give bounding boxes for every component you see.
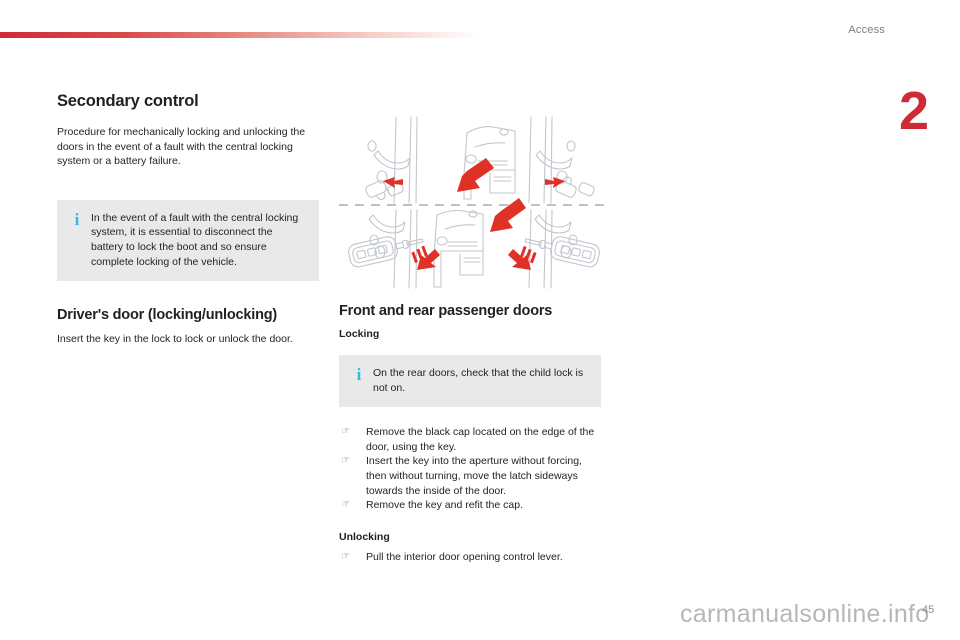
list-item: ☞ Remove the black cap located on the ed…	[339, 425, 601, 454]
section-title-passenger-doors: Front and rear passenger doors	[339, 303, 601, 319]
pointing-hand-icon: ☞	[341, 550, 350, 565]
door-lock-illustration	[339, 115, 609, 290]
page-number: 45	[922, 604, 934, 616]
pointing-hand-icon: ☞	[341, 454, 350, 469]
section-label: Access	[848, 24, 885, 36]
info-callout-text: In the event of a fault with the central…	[87, 211, 305, 269]
list-item: ☞ Pull the interior door opening control…	[339, 550, 601, 565]
locking-label: Locking	[339, 328, 601, 340]
unlocking-label: Unlocking	[339, 531, 601, 543]
left-column: Secondary control Procedure for mechanic…	[57, 92, 319, 347]
page-title: Secondary control	[57, 92, 319, 111]
site-watermark: carmanualsonline.info	[680, 600, 930, 629]
list-item: ☞ Remove the key and refit the cap.	[339, 498, 601, 513]
info-callout-central-locking: i In the event of a fault with the centr…	[57, 200, 319, 281]
info-callout-text: On the rear doors, check that the child …	[369, 366, 587, 395]
chapter-number: 2	[899, 84, 928, 138]
unlocking-steps-list: ☞ Pull the interior door opening control…	[339, 550, 601, 565]
info-callout-child-lock: i On the rear doors, check that the chil…	[339, 355, 601, 407]
pointing-hand-icon: ☞	[341, 498, 350, 513]
locking-steps-list: ☞ Remove the black cap located on the ed…	[339, 425, 601, 513]
list-item-text: Insert the key into the aperture without…	[366, 455, 582, 496]
subsection-title-drivers-door: Driver's door (locking/unlocking)	[57, 307, 319, 323]
list-item-text: Remove the key and refit the cap.	[366, 499, 523, 511]
subsection-text-drivers-door: Insert the key in the lock to lock or un…	[57, 332, 319, 347]
info-icon: i	[67, 211, 87, 227]
list-item-text: Remove the black cap located on the edge…	[366, 426, 594, 453]
list-item: ☞ Insert the key into the aperture witho…	[339, 454, 601, 498]
intro-paragraph: Procedure for mechanically locking and u…	[57, 125, 319, 169]
header-accent-rule	[0, 32, 480, 38]
right-column: Front and rear passenger doors Locking i…	[339, 303, 601, 564]
list-item-text: Pull the interior door opening control l…	[366, 551, 563, 563]
pointing-hand-icon: ☞	[341, 425, 350, 440]
info-icon: i	[349, 366, 369, 382]
